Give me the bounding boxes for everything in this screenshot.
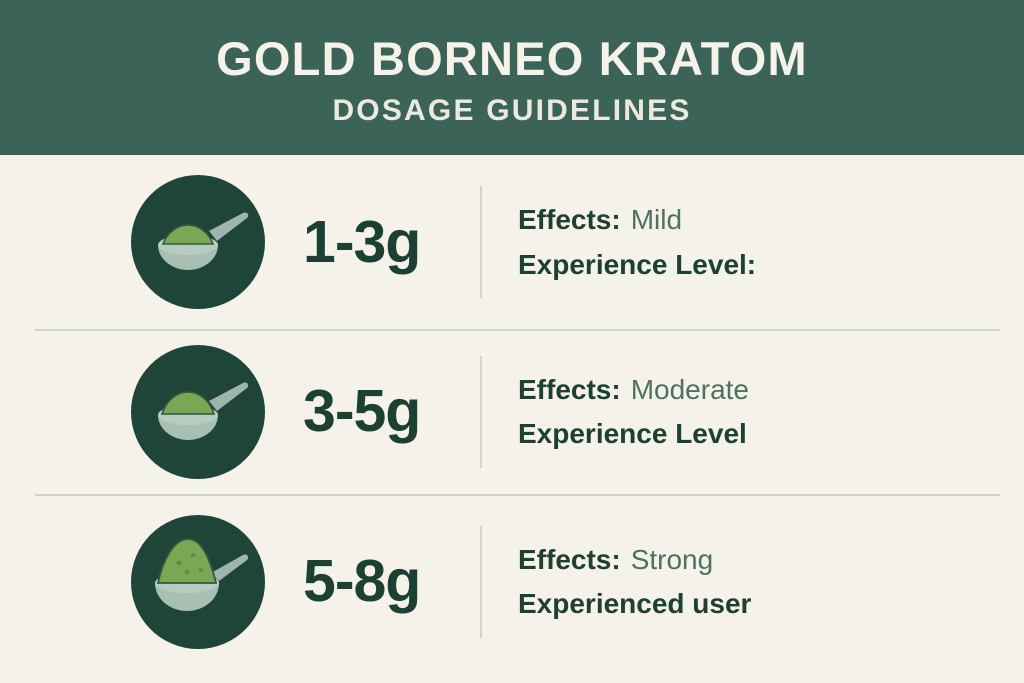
experience-level-line: Experienced user xyxy=(518,587,1024,620)
page-subtitle: DOSAGE GUIDELINES xyxy=(332,94,691,127)
dosage-details: Effects:Moderate Experience Level xyxy=(518,373,1024,450)
effects-line: Effects:Strong xyxy=(518,543,1024,576)
column-divider xyxy=(480,356,482,468)
dosage-row: 3-5g Effects:Moderate Experience Level xyxy=(0,329,1024,494)
dose-amount: 1-3g xyxy=(265,213,480,272)
effects-label: Effects: xyxy=(518,374,621,405)
dosage-details: Effects:Strong Experienced user xyxy=(518,543,1024,620)
column-divider xyxy=(480,186,482,298)
dosage-rows: 1-3g Effects:Mild Experience Level: xyxy=(0,155,1024,683)
measuring-spoon-icon xyxy=(131,515,265,649)
header-banner: GOLD BORNEO KRATOM DOSAGE GUIDELINES xyxy=(0,0,1024,155)
effects-value: Strong xyxy=(631,544,714,575)
effects-line: Effects:Moderate xyxy=(518,373,1024,406)
measuring-spoon-icon xyxy=(131,345,265,479)
effects-value: Moderate xyxy=(631,374,749,405)
measuring-spoon-icon xyxy=(131,175,265,309)
experience-level-line: Experience Level: xyxy=(518,248,1024,281)
experience-level-line: Experience Level xyxy=(518,417,1024,450)
dosage-row: 5-8g Effects:Strong Experienced user xyxy=(0,494,1024,669)
effects-label: Effects: xyxy=(518,204,621,235)
effects-label: Effects: xyxy=(518,544,621,575)
column-divider xyxy=(480,526,482,638)
dosage-row: 1-3g Effects:Mild Experience Level: xyxy=(0,155,1024,329)
dose-amount: 5-8g xyxy=(265,552,480,611)
effects-value: Mild xyxy=(631,204,682,235)
dose-amount: 3-5g xyxy=(265,382,480,441)
effects-line: Effects:Mild xyxy=(518,203,1024,236)
dosage-details: Effects:Mild Experience Level: xyxy=(518,203,1024,280)
dosage-infographic: GOLD BORNEO KRATOM DOSAGE GUIDELINES 1-3… xyxy=(0,0,1024,683)
page-title: GOLD BORNEO KRATOM xyxy=(216,34,808,83)
